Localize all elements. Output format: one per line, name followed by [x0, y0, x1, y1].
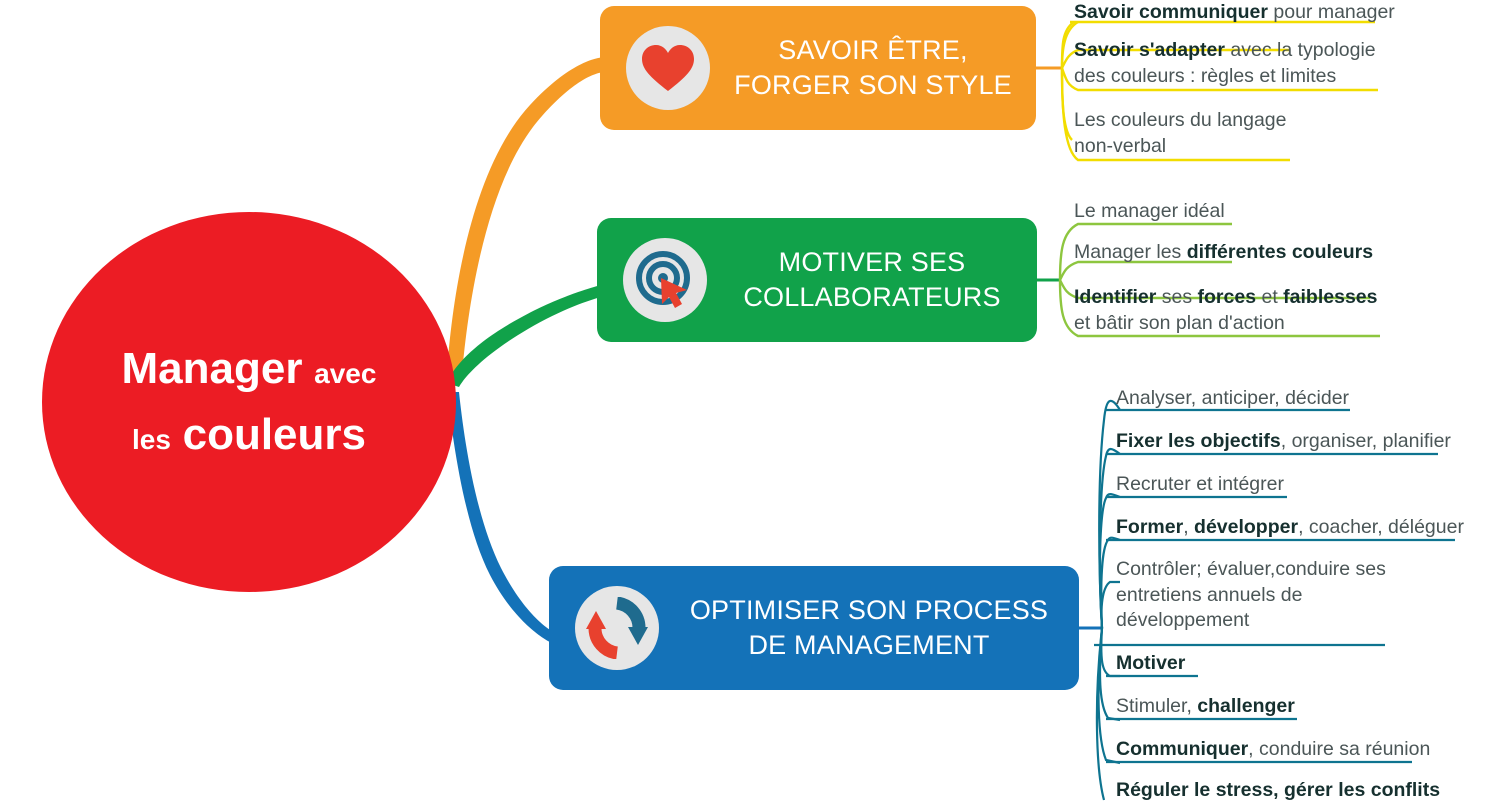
process-cycle-icon [575, 586, 659, 670]
leaf-plain: Stimuler, [1116, 695, 1197, 717]
leaf-text: Motiver [1116, 651, 1185, 677]
leaf-text: Contrôler; évaluer,conduire ses entretie… [1116, 557, 1386, 634]
leaf-orange-3[interactable]: Les couleurs du langage non-verbal [1074, 108, 1287, 159]
leaf-text: Stimuler, challenger [1116, 694, 1295, 720]
leaf-plain: et [1256, 286, 1283, 308]
leaf-text: Manager les différentes couleurs [1074, 240, 1373, 266]
leaf-text: Savoir s'adapter avec la typologie des c… [1074, 38, 1376, 89]
main-branch-blue-curve [447, 392, 556, 645]
center-word-avec: avec [314, 358, 376, 389]
branch-node-savoir-etre[interactable]: SAVOIR ÊTRE, FORGER SON STYLE [600, 6, 1036, 130]
leaf-bold: faiblesses [1283, 286, 1377, 308]
heart-icon [626, 26, 710, 110]
leaf-plain-line2: des couleurs : règles et limites [1074, 64, 1376, 90]
leaf-text: Analyser, anticiper, décider [1116, 386, 1349, 412]
center-node[interactable]: Manager avec les couleurs [42, 212, 456, 592]
center-word-les: les [132, 424, 171, 455]
target-cursor-icon [623, 238, 707, 322]
leaf-text: Le manager idéal [1074, 199, 1225, 225]
leaf-blue-7[interactable]: Stimuler, challenger [1116, 694, 1295, 720]
center-line-1: Manager avec [122, 343, 377, 395]
leaf-green-2[interactable]: Manager les différentes couleurs [1074, 240, 1373, 266]
leaf-plain-line2: non-verbal [1074, 134, 1287, 160]
leaf-text: Savoir communiquer pour manager [1074, 0, 1395, 26]
leaf-bold: développer [1194, 516, 1298, 538]
leaf-plain: Manager les [1074, 241, 1187, 263]
leaf-plain: Les couleurs du langage [1074, 108, 1287, 134]
leaf-plain: , [1183, 516, 1194, 538]
branch-title-line-2: FORGER SON STYLE [726, 68, 1020, 103]
center-word-manager: Manager [122, 344, 303, 393]
leaf-plain: , coacher, déléguer [1298, 516, 1464, 538]
leaf-bold: challenger [1197, 695, 1295, 717]
leaf-bold: Savoir communiquer [1074, 1, 1268, 23]
leaf-text: Fixer les objectifs, organiser, planifie… [1116, 429, 1451, 455]
branch-label-savoir-etre: SAVOIR ÊTRE, FORGER SON STYLE [710, 33, 1036, 103]
branch-title-line-2: COLLABORATEURS [723, 280, 1021, 315]
leaf-blue-4[interactable]: Former, développer, coacher, déléguer [1116, 515, 1464, 541]
leaf-bold: Réguler le stress, gérer les conflits [1116, 779, 1440, 801]
leaf-plain: Recruter et intégrer [1116, 472, 1284, 498]
leaf-plain: Le manager idéal [1074, 199, 1225, 225]
branch-title-line-1: MOTIVER SES [723, 245, 1021, 280]
leaf-plain-line2: et bâtir son plan d'action [1074, 311, 1377, 337]
leaf-bold: Savoir s'adapter [1074, 39, 1225, 61]
mindmap-canvas: Manager avec les couleurs SAVOIR ÊTRE, F… [0, 0, 1500, 800]
leaf-plain: Contrôler; évaluer,conduire ses [1116, 557, 1386, 583]
leaf-blue-1[interactable]: Analyser, anticiper, décider [1116, 386, 1349, 412]
branch-title-line-1: OPTIMISER SON PROCESS [675, 593, 1063, 628]
leaf-plain: , organiser, planifier [1281, 430, 1451, 452]
leaf-orange-2[interactable]: Savoir s'adapter avec la typologie des c… [1074, 38, 1376, 89]
leaf-green-3[interactable]: Identifier ses forces et faiblesses et b… [1074, 285, 1377, 336]
leaf-bold: Fixer les objectifs [1116, 430, 1281, 452]
branch-node-motiver[interactable]: MOTIVER SES COLLABORATEURS [597, 218, 1037, 342]
branch-title-line-1: SAVOIR ÊTRE, [726, 33, 1020, 68]
leaf-plain: Analyser, anticiper, décider [1116, 386, 1349, 412]
leaf-bold: Former [1116, 516, 1183, 538]
leaf-text: Identifier ses forces et faiblesses et b… [1074, 285, 1377, 336]
leaf-blue-2[interactable]: Fixer les objectifs, organiser, planifie… [1116, 429, 1451, 455]
leaf-blue-6[interactable]: Motiver [1116, 651, 1185, 677]
leaf-blue-5[interactable]: Contrôler; évaluer,conduire ses entretie… [1116, 557, 1386, 634]
leaf-plain: ses [1156, 286, 1197, 308]
leaf-bold: Identifier [1074, 286, 1156, 308]
leaf-blue-8[interactable]: Communiquer, conduire sa réunion [1116, 737, 1430, 763]
leaf-text: Communiquer, conduire sa réunion [1116, 737, 1430, 763]
leaf-orange-1[interactable]: Savoir communiquer pour manager [1074, 0, 1395, 26]
leaf-plain: avec la typologie [1225, 39, 1376, 61]
branch-label-optimiser: OPTIMISER SON PROCESS DE MANAGEMENT [659, 593, 1079, 663]
branch-title-line-2: DE MANAGEMENT [675, 628, 1063, 663]
leaf-green-1[interactable]: Le manager idéal [1074, 199, 1225, 225]
leaf-bold: différentes couleurs [1187, 241, 1373, 263]
center-line-2: les couleurs [132, 409, 366, 461]
leaf-plain-line2: entretiens annuels de [1116, 583, 1386, 609]
leaf-plain: pour manager [1268, 1, 1395, 23]
branch-node-optimiser[interactable]: OPTIMISER SON PROCESS DE MANAGEMENT [549, 566, 1079, 690]
leaf-text: Former, développer, coacher, déléguer [1116, 515, 1464, 541]
leaf-bold: forces [1198, 286, 1257, 308]
leaf-plain: , conduire sa réunion [1248, 738, 1430, 760]
leaf-plain-line3: développement [1116, 608, 1386, 634]
leaf-blue-3[interactable]: Recruter et intégrer [1116, 472, 1284, 498]
center-word-couleurs: couleurs [183, 410, 366, 459]
leaf-text: Recruter et intégrer [1116, 472, 1284, 498]
leaf-bold: Communiquer [1116, 738, 1248, 760]
leaf-text: Les couleurs du langage non-verbal [1074, 108, 1287, 159]
leaf-bold: Motiver [1116, 652, 1185, 674]
branch-label-motiver: MOTIVER SES COLLABORATEURS [707, 245, 1037, 315]
